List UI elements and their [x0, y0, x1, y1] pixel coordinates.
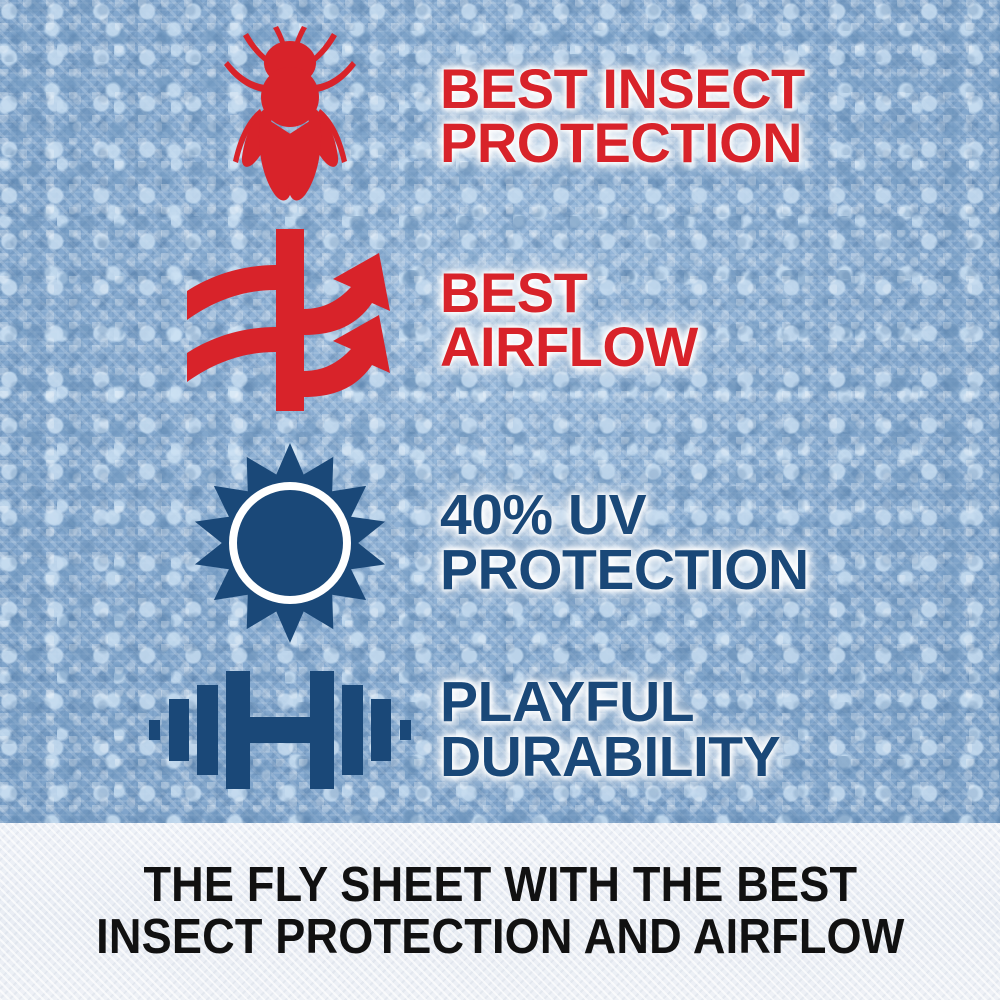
fly-icon [215, 23, 365, 209]
durability-text-container: PLAYFUL DURABILITY [440, 675, 980, 786]
feature-row-durability: PLAYFUL DURABILITY [120, 650, 980, 810]
feature-row-airflow: BEST AIRFLOW [140, 222, 980, 418]
feature-row-uv-protection: 40% UV PROTECTION [140, 440, 980, 646]
infographic-canvas: BEST INSECT PROTECTION [0, 0, 1000, 1000]
sun-icon-container [140, 440, 440, 646]
feature-row-insect-protection: BEST INSECT PROTECTION [140, 18, 980, 214]
feature-headline-insect-protection: BEST INSECT PROTECTION [440, 62, 980, 171]
airflow-icon-container [140, 222, 440, 418]
airflow-arrows-icon [183, 225, 398, 415]
feature-headline-uv-protection: 40% UV PROTECTION [440, 488, 980, 599]
airflow-text-container: BEST AIRFLOW [440, 266, 980, 375]
caption-band: THE FLY SHEET WITH THE BEST INSECT PROTE… [0, 823, 1000, 1000]
dumbbell-icon-container [120, 650, 440, 810]
uv-protection-text-container: 40% UV PROTECTION [440, 488, 980, 599]
sun-burst-icon [190, 443, 390, 643]
feature-headline-durability: PLAYFUL DURABILITY [440, 675, 980, 786]
caption-headline: THE FLY SHEET WITH THE BEST INSECT PROTE… [96, 860, 904, 964]
fly-icon-container [140, 18, 440, 214]
feature-headline-airflow: BEST AIRFLOW [440, 266, 980, 375]
insect-protection-text-container: BEST INSECT PROTECTION [440, 62, 980, 171]
dumbbell-icon [149, 668, 411, 792]
